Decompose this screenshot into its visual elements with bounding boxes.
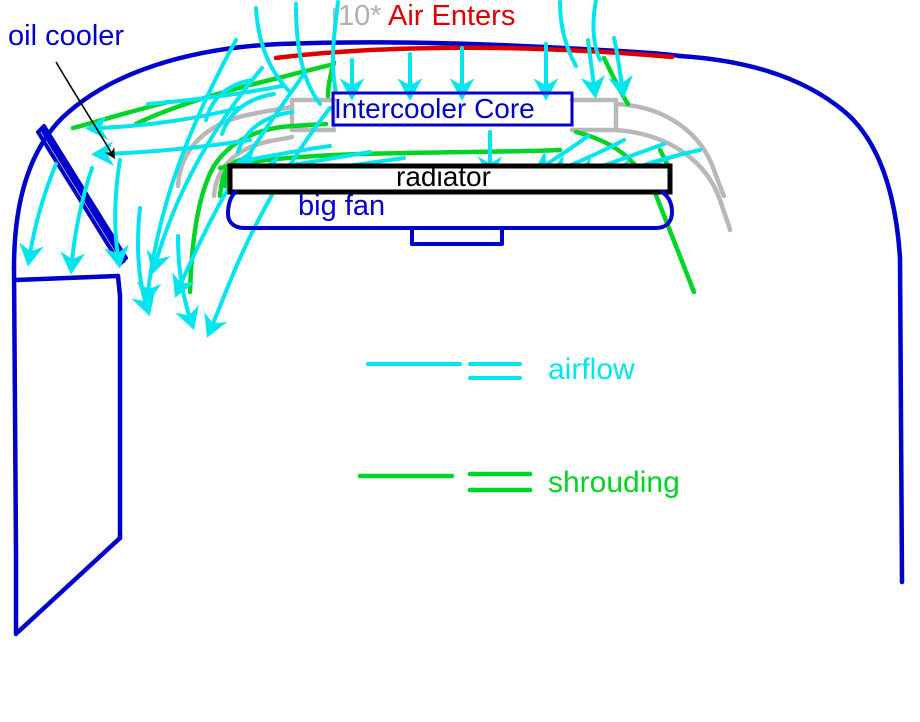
label-air-enters: Air Enters — [388, 2, 515, 31]
vehicle-body-outline — [14, 42, 902, 634]
label-intercooler-core: Intercooler Core — [334, 95, 535, 123]
label-radiator: radiator — [396, 163, 491, 191]
legend-swatch-airflow — [368, 364, 520, 378]
oil-cooler-pointer-arrow — [56, 62, 112, 154]
legend-label-shrouding: shrouding — [548, 468, 680, 498]
legend-swatch-shrouding — [360, 474, 530, 490]
label-big-fan: big fan — [298, 192, 385, 221]
label-angle-10deg: 10* — [338, 2, 382, 31]
diagram-canvas: oil cooler 10* Air Enters Intercooler Co… — [0, 0, 920, 722]
label-oil-cooler: oil cooler — [8, 22, 124, 51]
legend-label-airflow: airflow — [548, 355, 635, 385]
big-fan-shroud — [228, 192, 672, 244]
